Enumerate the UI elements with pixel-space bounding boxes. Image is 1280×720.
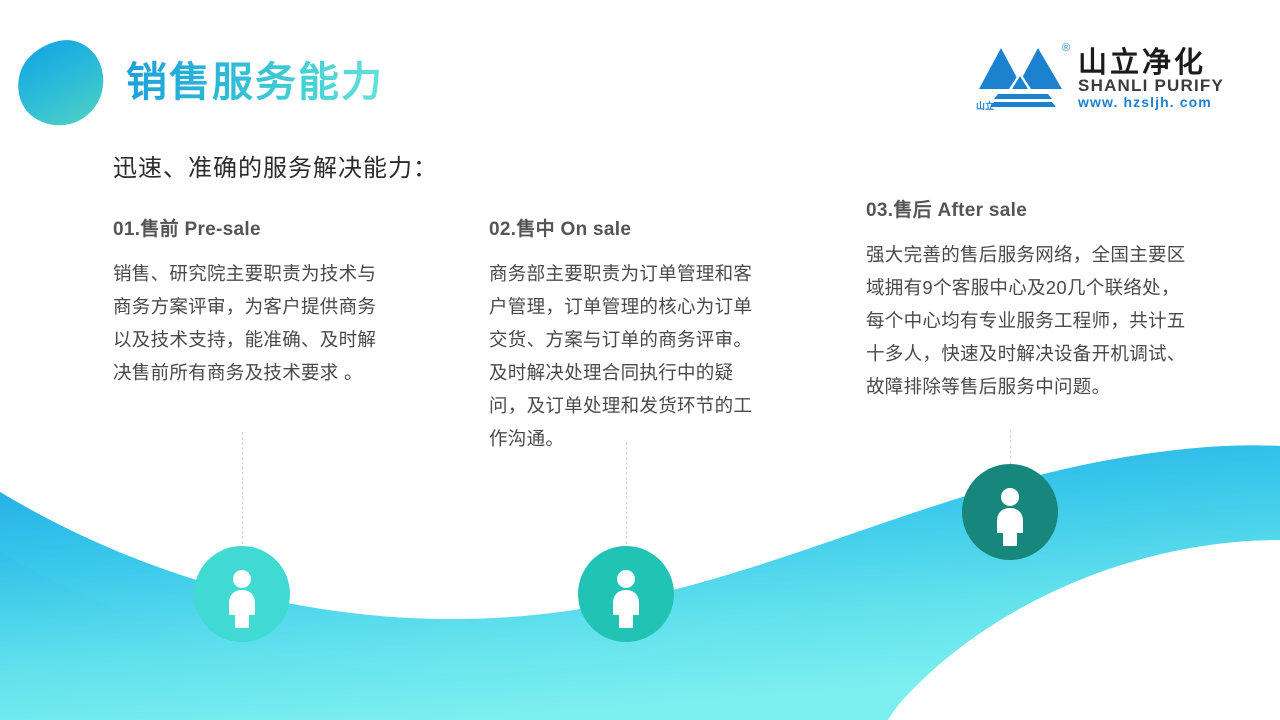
slide-canvas: 销售服务能力 ® 山立 山立净化 SHANLI PURIFY www. hzsl… [0,0,1280,720]
connector-line-on-sale [626,442,627,554]
logo-mark-label: 山立 [976,102,994,111]
marker-after-sale[interactable] [962,464,1058,560]
decorative-blob [14,36,110,128]
logo-text-block: 山立净化 SHANLI PURIFY www. hzsljh. com [1078,42,1224,109]
page-title: 销售服务能力 [126,58,384,107]
mountain-logo-icon: ® 山立 [976,42,1072,110]
column-heading: 02.售中 On sale [489,214,761,241]
marker-pre-sale[interactable] [194,546,290,642]
column-on-sale: 02.售中 On sale 商务部主要职责为订单管理和客户管理，订单管理的核心为… [489,214,761,456]
column-body: 销售、研究院主要职责为技术与商务方案评审，为客户提供商务以及技术支持，能准确、及… [113,258,385,390]
column-pre-sale: 01.售前 Pre-sale 销售、研究院主要职责为技术与商务方案评审，为客户提… [113,214,385,390]
column-body: 商务部主要职责为订单管理和客户管理，订单管理的核心为订单交货、方案与订单的商务评… [489,258,761,456]
subtitle: 迅速、准确的服务解决能力： [113,148,438,183]
logo-name-en: SHANLI PURIFY [1078,77,1224,95]
column-heading: 01.售前 Pre-sale [113,214,385,241]
marker-on-sale[interactable] [578,546,674,642]
logo-website-url: www. hzsljh. com [1078,95,1224,110]
column-heading: 03.售后 After sale [866,195,1188,222]
logo-name-cn: 山立净化 [1078,48,1224,78]
company-logo: ® 山立 山立净化 SHANLI PURIFY www. hzsljh. com [976,42,1224,110]
column-body: 强大完善的售后服务网络，全国主要区域拥有9个客服中心及20几个联络处，每个中心均… [866,239,1188,404]
column-after-sale: 03.售后 After sale 强大完善的售后服务网络，全国主要区域拥有9个客… [866,195,1188,404]
connector-line-pre-sale [242,432,243,554]
registered-trademark-icon: ® [1062,43,1070,54]
